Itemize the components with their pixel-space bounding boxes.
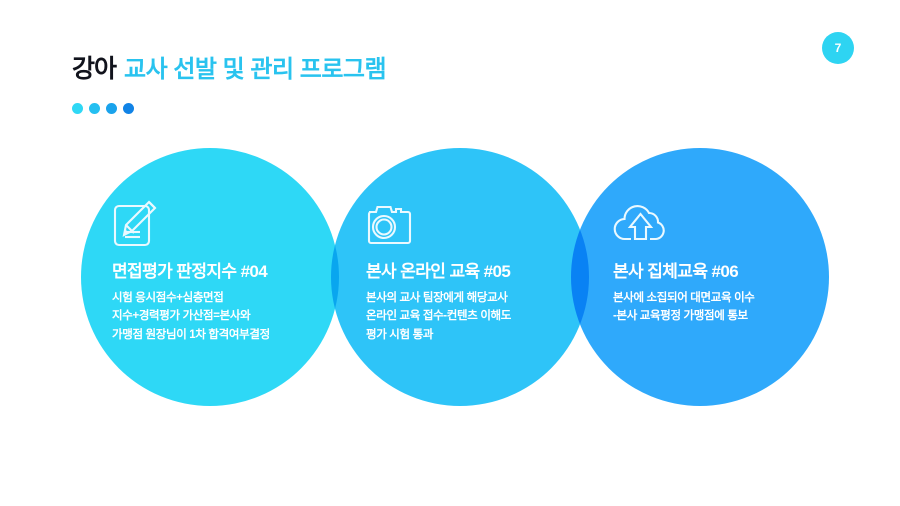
venn-line: 지수+경력평가 가산점=본사와 xyxy=(112,307,342,326)
venn-lines-1: 시험 응시점수+심층면접 지수+경력평가 가산점=본사와 가맹점 원장님이 1차… xyxy=(112,289,342,345)
venn-title-1: 면접평가 판정지수 #04 xyxy=(112,263,342,282)
venn-title-2: 본사 온라인 교육 #05 xyxy=(366,263,596,282)
venn-line: 시험 응시점수+심층면접 xyxy=(112,289,342,308)
venn-content-3: 본사 집체교육 #06 본사에 소집되어 대면교육 이수 -본사 교육평정 가맹… xyxy=(613,198,843,326)
venn-line: 본사의 교사 팀장에게 해당교사 xyxy=(366,289,596,308)
venn-content-1: 면접평가 판정지수 #04 시험 응시점수+심층면접 지수+경력평가 가산점=본… xyxy=(112,198,342,345)
venn-lines-3: 본사에 소집되어 대면교육 이수 -본사 교육평정 가맹점에 통보 xyxy=(613,289,843,326)
venn-line: 평가 시험 통과 xyxy=(366,326,596,345)
edit-pencil-icon xyxy=(112,198,342,248)
venn-line: 가맹점 원장님이 1차 합격여부결정 xyxy=(112,326,342,345)
venn-lines-2: 본사의 교사 팀장에게 해당교사 온라인 교육 접수-컨텐츠 이해도 평가 시험… xyxy=(366,289,596,345)
venn-title-3: 본사 집체교육 #06 xyxy=(613,263,843,282)
cloud-upload-icon xyxy=(613,198,843,248)
venn-line: -본사 교육평정 가맹점에 통보 xyxy=(613,307,843,326)
camera-icon xyxy=(366,198,596,248)
venn-line: 본사에 소집되어 대면교육 이수 xyxy=(613,289,843,308)
venn-line: 온라인 교육 접수-컨텐츠 이해도 xyxy=(366,307,596,326)
venn-content-2: 본사 온라인 교육 #05 본사의 교사 팀장에게 해당교사 온라인 교육 접수… xyxy=(366,198,596,345)
